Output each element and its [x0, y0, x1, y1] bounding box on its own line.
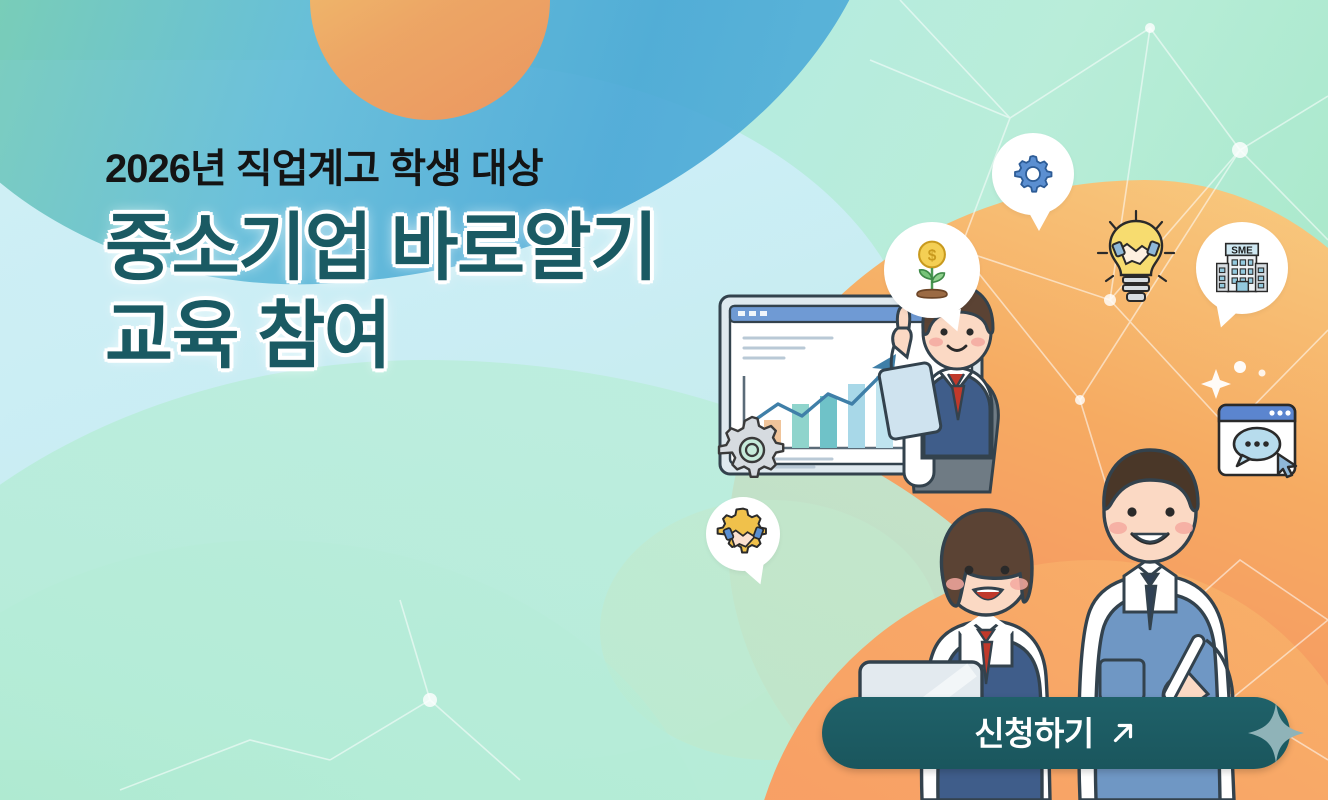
headline-line-2: 교육 참여 — [105, 294, 657, 378]
money-plant-icon: $ — [901, 238, 963, 302]
apply-button[interactable]: 신청하기 — [822, 697, 1290, 769]
background-circle-orange — [310, 0, 550, 120]
eyebrow-text: 2026년 직업계고 학생 대상 — [105, 148, 657, 190]
gear-bubble — [992, 133, 1074, 215]
money-plant-bubble: $ — [884, 222, 980, 318]
gear-outline-icon — [712, 410, 792, 490]
promo-banner: 2026년 직업계고 학생 대상 중소기업 바로알기 교육 참여 $ SME — [0, 0, 1328, 800]
lightbulb-handshake-icon — [1090, 205, 1182, 313]
svg-text:$: $ — [928, 248, 937, 265]
apply-button-label: 신청하기 — [974, 717, 1093, 750]
sme-building-icon: SME — [1213, 240, 1271, 296]
sme-building-bubble: SME — [1196, 222, 1288, 314]
headline-group: 2026년 직업계고 학생 대상 중소기업 바로알기 교육 참여 — [105, 148, 657, 379]
chat-window-icon — [1216, 402, 1302, 482]
lightbulb-handshake-icon-wrap — [1090, 205, 1182, 313]
arrow-up-right-icon — [1108, 718, 1138, 748]
gear-icon — [1009, 150, 1057, 198]
headline-line-1: 중소기업 바로알기 — [105, 206, 657, 290]
gear-outline-icon-wrap — [712, 410, 792, 490]
gear-handshake-bubble — [706, 497, 780, 571]
background-blob-teal — [0, 540, 720, 800]
gear-handshake-icon — [714, 505, 772, 563]
chat-window-icon-wrap — [1216, 402, 1302, 482]
